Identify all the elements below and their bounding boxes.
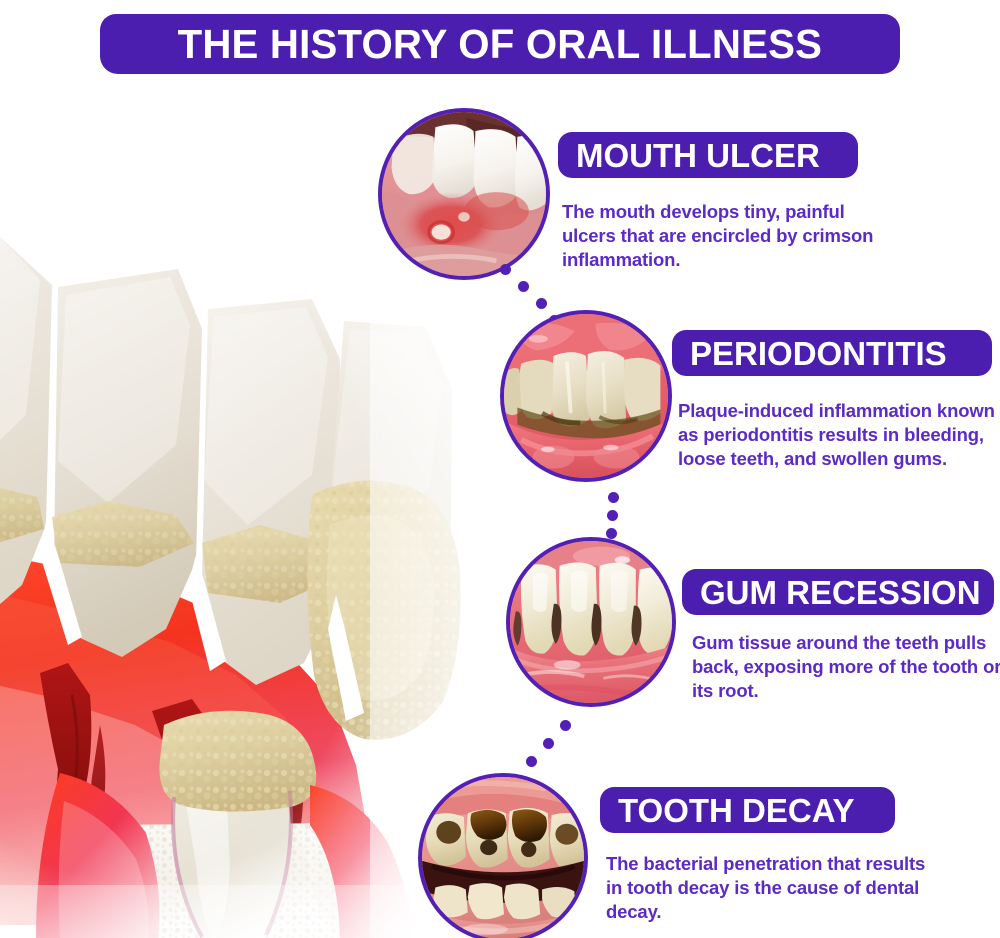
connector-dot [608,492,619,503]
pill-tooth-decay: TOOTH DECAY [600,787,895,833]
tooth-decay-photo [418,773,588,938]
desc-tooth-decay: The bacterial penetration that results i… [606,852,926,924]
connector-dot [536,298,547,309]
pill-gum-recession: GUM RECESSION [682,569,994,615]
page-title: THE HISTORY OF ORAL ILLNESS [100,14,900,74]
pill-periodontitis: PERIODONTITIS [672,330,992,376]
connector-dot [543,738,554,749]
page-title-text: THE HISTORY OF ORAL ILLNESS [178,24,823,65]
dental-illustration [0,225,470,938]
pill-mouth-ulcer: MOUTH ULCER [558,132,858,178]
pill-periodontitis-label: PERIODONTITIS [690,337,947,370]
mouth-ulcer-photo [378,108,550,280]
connector-dot [518,281,529,292]
infographic-canvas: THE HISTORY OF ORAL ILLNESS [0,0,1000,938]
desc-gum-recession: Gum tissue around the teeth pulls back, … [692,631,1000,703]
gum-recession-photo [506,537,676,707]
pill-mouth-ulcer-label: MOUTH ULCER [576,139,820,172]
desc-mouth-ulcer: The mouth develops tiny, painful ulcers … [562,200,882,272]
connector-dot [606,528,617,539]
periodontitis-photo [500,310,672,482]
connector-dot [500,264,511,275]
pill-tooth-decay-label: TOOTH DECAY [618,794,855,827]
connector-dot [526,756,537,767]
connector-dot [607,510,618,521]
pill-gum-recession-label: GUM RECESSION [700,576,981,609]
desc-periodontitis: Plaque-induced inflammation known as per… [678,399,998,471]
connector-dot [560,720,571,731]
